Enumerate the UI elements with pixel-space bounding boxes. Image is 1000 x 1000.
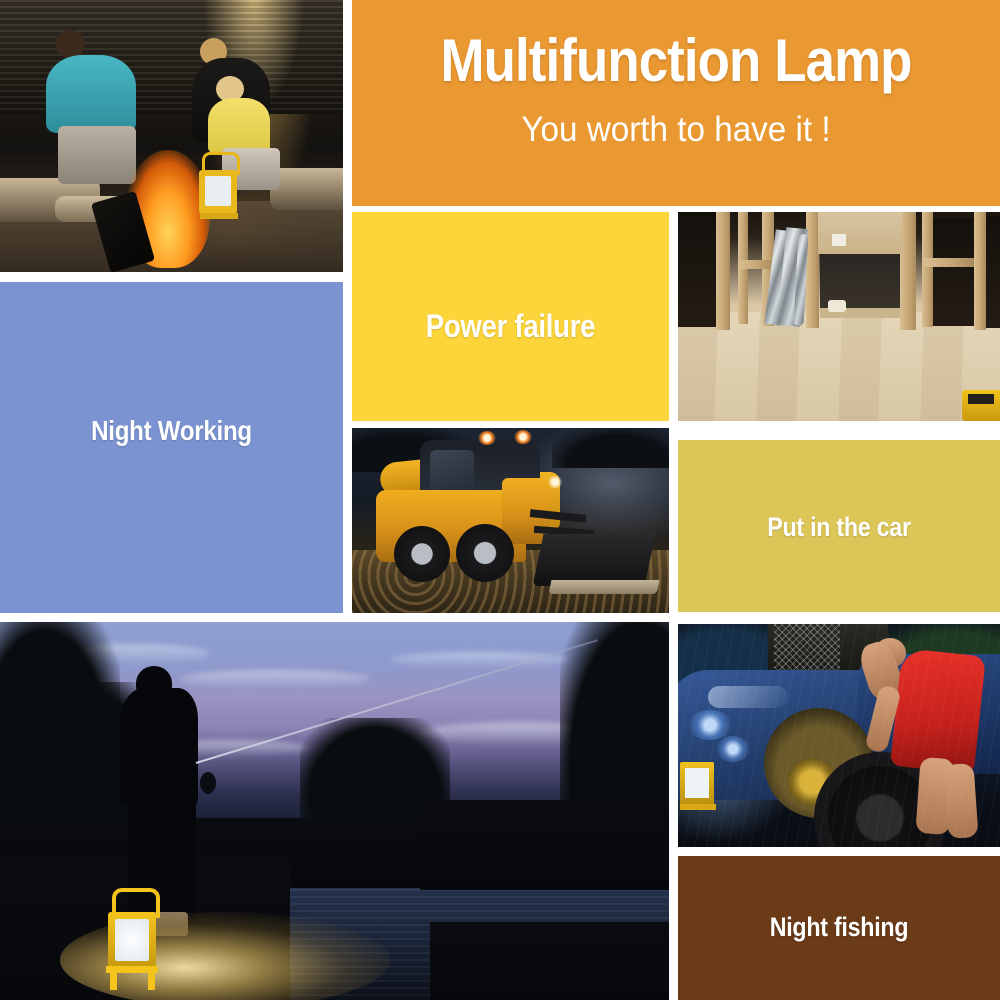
- panel-label-night-fishing: Night fishing: [701, 912, 978, 943]
- page-subtitle: You worth to have it !: [368, 110, 984, 150]
- photo-skid-steer-loader: [352, 428, 669, 613]
- photo-night-fishing: [0, 622, 669, 1000]
- photo-camping: [0, 0, 343, 272]
- panel-put-in-the-car: Put in the car: [678, 440, 1000, 612]
- panel-power-failure: Power failure: [352, 212, 669, 421]
- photo-construction: [678, 212, 1000, 421]
- product-collage: Multifunction Lamp You worth to have it …: [0, 0, 1000, 1000]
- header-banner: Multifunction Lamp You worth to have it …: [352, 0, 1000, 206]
- panel-label-put-in-the-car: Put in the car: [701, 512, 978, 543]
- panel-night-fishing: Night fishing: [678, 856, 1000, 1000]
- panel-night-working: Night Working: [0, 282, 343, 613]
- panel-label-night-working: Night Working: [24, 415, 319, 447]
- panel-label-power-failure: Power failure: [374, 308, 647, 345]
- page-title: Multifunction Lamp: [391, 30, 961, 91]
- photo-roadside-tire-change: [678, 624, 1000, 847]
